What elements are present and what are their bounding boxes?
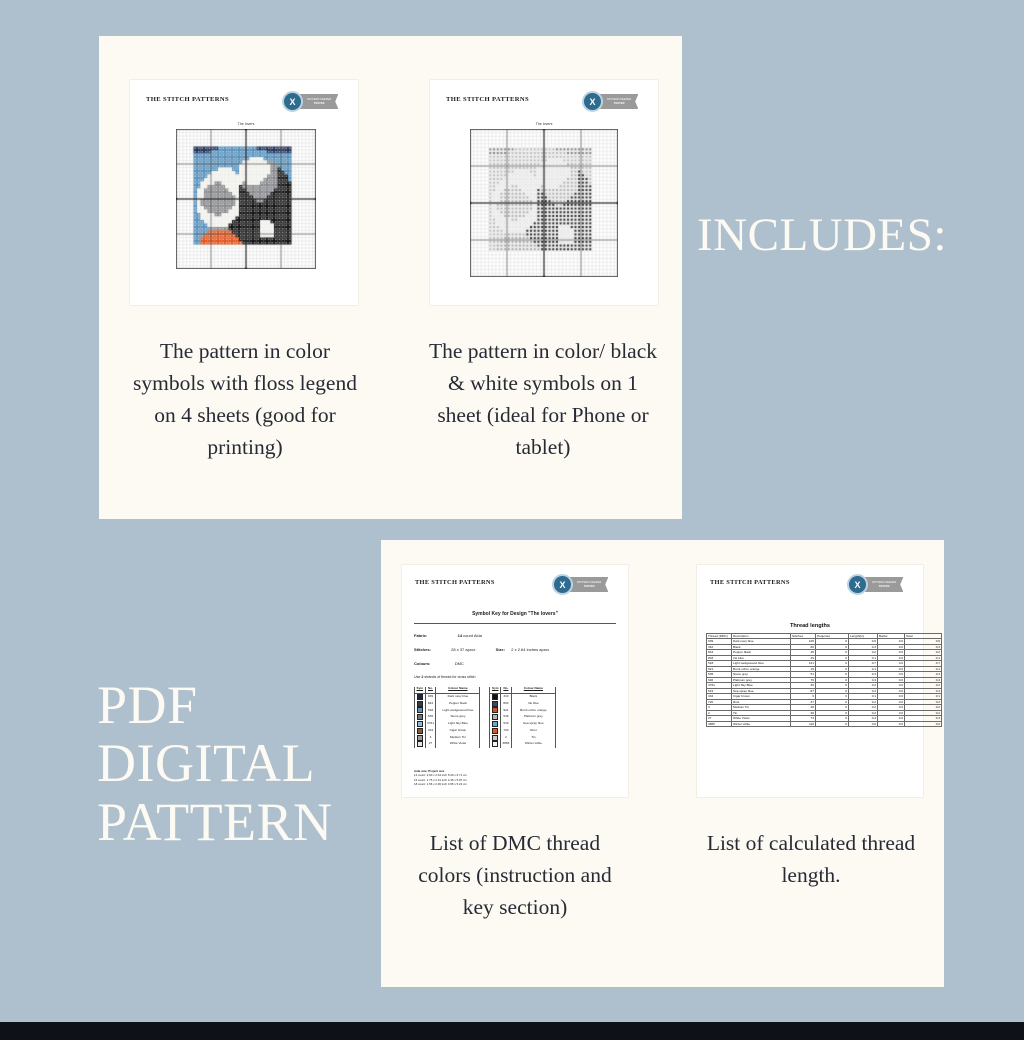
symbol-key-table: SymNo.Colour NameSymNo.Colour Name 939Da… [414,687,556,748]
symbol-swatch [417,707,423,713]
color-pattern-chart: The lovers [176,129,316,269]
table-cell: 720 [500,727,511,734]
symbol-swatch [417,735,423,741]
symbol-swatch [417,741,423,747]
table-cell: Pepper black [436,700,480,707]
symbol-key-row: 535Stone grey646Platinum grey [415,714,556,721]
table-cell: 0.0 [878,721,905,726]
sheet-brand-title: THE STITCH PATTERNS [446,96,529,103]
symbol-swatch [492,728,498,734]
badge-x-icon: X [847,574,868,595]
symbol-key-row: 3Medium Tin2Tin [415,734,556,741]
pattern-keeper-badge: X PATTERN KEEPER TESTED [582,91,638,112]
table-cell [415,727,426,734]
fabric-row: Fabric: 14 count Aida [414,633,482,638]
caption-thread-length: List of calculated thread length. [692,827,930,891]
aida-size-line: 18 count: 1.56 x 2.06 inch 3.95 x 5.22 c… [414,782,467,786]
badge-ribbon: PATTERN KEEPER TESTED [569,577,608,592]
table-cell: Stone grey [436,714,480,721]
caption-dmc-list: List of DMC thread colors (instruction a… [406,827,624,923]
column-header: Thread (DMC) [707,634,732,639]
pdf-line-3: PATTERN [97,793,333,851]
table-cell: 518 [425,707,436,714]
bottom-strip [0,1022,1024,1040]
table-cell [415,707,426,714]
strands-note: Use 2 strands of thread for cross stitch [414,675,476,679]
column-gap [480,734,490,741]
thread-lengths-title: Thread lengths [697,623,923,629]
strands-note-post: strands of thread for cross stitch [424,675,475,679]
poster-root: THE STITCH PATTERNS X PATTERN KEEPER TES… [0,0,1024,1040]
table-cell: Burnt ochre orange [511,707,555,714]
colours-label: Colours: [414,661,430,666]
table-cell: Tin [511,734,555,741]
table-cell: Dark navy blue [436,693,480,700]
table-cell: 535 [425,714,436,721]
table-header-row: Thread (DMC)DescriptionStitchesPequntesL… [707,634,942,639]
column-gap [480,707,490,714]
table-cell: 3865 [500,741,511,748]
column-gap [480,714,490,721]
table-cell: Rust [511,727,555,734]
badge-line2: TESTED [314,102,325,105]
table-cell: Cigar brown [436,727,480,734]
symbol-key-row: 27White Violet3865Winter white [415,741,556,748]
symbol-swatch [492,741,498,747]
table-cell: 519 [500,721,511,728]
symbol-swatch [492,735,498,741]
pattern-keeper-badge: X PATTERN KEEPER TESTED [282,91,338,112]
table-cell: 3865 [707,721,732,726]
badge-x-icon: X [582,91,603,112]
table-cell [490,721,501,728]
table-cell: 2 [500,734,511,741]
bw-chart-canvas [470,129,618,277]
table-cell: 3761 [425,721,436,728]
table-cell [415,693,426,700]
column-gap [480,727,490,734]
aida-size-block: Aida size: Project size 14 count: 2.00 x… [414,769,467,786]
thread-row: 3865Winter white11000.60.00.6 [707,721,942,726]
stitches-label: Stitches: [414,647,431,652]
fabric-label: Fabric: [414,633,427,638]
symbol-key-row: 939Dark navy blue310Black [415,693,556,700]
sheet-brand-title: THE STITCH PATTERNS [415,579,495,586]
badge-ribbon: PATTERN KEEPER TESTED [864,577,903,592]
size-label: Size: [496,647,505,652]
symbol-swatch [492,714,498,720]
stitches-row: Stitches: 28 x 37 aprox Size: 2 x 2.64 i… [414,647,549,652]
sheet-bw-symbols[interactable]: THE STITCH PATTERNS X PATTERN KEEPER TES… [430,80,658,305]
table-cell [415,741,426,748]
pattern-keeper-badge: X PATTERN KEEPER TESTED [847,574,903,595]
table-cell [415,714,426,721]
symbol-key-heading: Symbol Key for Design "The lovers" [402,611,628,617]
table-cell: Ink blue [511,700,555,707]
table-cell: 110 [791,721,816,726]
badge-x-icon: X [282,91,303,112]
table-cell: Black [511,693,555,700]
fabric-count: 14 [458,633,462,638]
table-cell: Light wedgewood blue [436,707,480,714]
chart-title-label: The lovers [470,122,618,126]
symbol-swatch [492,721,498,727]
column-gap [480,721,490,728]
table-cell [490,714,501,721]
symbol-key-row: 844Pepper black803Ink blue [415,700,556,707]
symbol-swatch [417,694,423,700]
table-cell: 0.6 [905,721,942,726]
table-cell [415,700,426,707]
table-cell [490,734,501,741]
pdf-line-2: DIGITAL [97,734,333,792]
table-cell: 3 [425,734,436,741]
sheet-thread-lengths[interactable]: THE STITCH PATTERNS X PATTERN KEEPER TES… [697,565,923,797]
thread-lengths-table: Thread (DMC)DescriptionStitchesPequntesL… [706,633,942,727]
symbol-swatch [492,694,498,700]
sheet-symbol-key[interactable]: THE STITCH PATTERNS X PATTERN KEEPER TES… [402,565,628,797]
table-cell: 0 [816,721,849,726]
table-cell: Platinum grey [511,714,555,721]
badge-ribbon: PATTERN KEEPER TESTED [299,94,338,109]
sheet-brand-title: THE STITCH PATTERNS [146,96,229,103]
table-cell: 646 [500,714,511,721]
table-cell: White Violet [436,741,480,748]
symbol-swatch [417,728,423,734]
pattern-keeper-badge: X PATTERN KEEPER TESTED [552,574,608,595]
badge-line2: TESTED [584,585,595,588]
table-cell [415,721,426,728]
column-gap [480,700,490,707]
table-cell: Sea spray blue [511,721,555,728]
column-gap [480,741,490,748]
badge-line2: TESTED [879,585,890,588]
symbol-swatch [417,714,423,720]
table-cell [490,700,501,707]
badge-x-icon: X [552,574,573,595]
chart-title-label: The lovers [176,122,316,126]
strands-note-pre: Use [414,675,420,679]
pdf-digital-pattern-headline: PDF DIGITAL PATTERN [97,676,333,851]
table-cell: 310 [500,693,511,700]
table-cell: 844 [425,700,436,707]
colours-value: DMC [455,661,464,666]
table-cell: Medium Tin [436,734,480,741]
size-value: 2 x 2.64 inches aprox [511,647,549,652]
symbol-key-row: 518Light wedgewood blue921Burnt ochre or… [415,707,556,714]
table-cell: 0.6 [849,721,878,726]
symbol-key-row: 3761Light Sky Blue519Sea spray blue [415,721,556,728]
caption-color-symbols: The pattern in color symbols with floss … [126,335,364,463]
includes-headline: INCLUDES: [697,212,947,259]
table-cell: 434 [425,727,436,734]
symbol-swatch [417,701,423,707]
table-cell: Winter white [732,721,791,726]
color-chart-canvas [176,129,316,269]
symbol-key-row: 434Cigar brown720Rust [415,727,556,734]
stitches-value: 28 x 37 aprox [451,647,475,652]
table-cell: Light Sky Blue [436,721,480,728]
table-cell [490,693,501,700]
table-cell: Winter white [511,741,555,748]
table-cell [490,727,501,734]
table-cell: 921 [500,707,511,714]
table-cell: 27 [425,741,436,748]
caption-bw-symbols: The pattern in color/ black & white symb… [424,335,662,463]
sheet-color-symbols[interactable]: THE STITCH PATTERNS X PATTERN KEEPER TES… [130,80,358,305]
symbol-swatch [492,707,498,713]
badge-ribbon: PATTERN KEEPER TESTED [599,94,638,109]
colours-row: Colours: DMC [414,661,464,666]
symbol-swatch [492,701,498,707]
fabric-value: count Aida [463,633,482,638]
pdf-line-1: PDF [97,676,333,734]
badge-line2: TESTED [614,102,625,105]
symbol-swatch [417,721,423,727]
sheet-brand-title: THE STITCH PATTERNS [710,579,790,586]
table-cell [490,707,501,714]
divider-top [414,623,616,624]
bw-pattern-chart: The lovers [470,129,618,277]
table-cell [490,741,501,748]
column-gap [480,693,490,700]
table-cell [415,734,426,741]
table-cell: 939 [425,693,436,700]
table-cell: 803 [500,700,511,707]
